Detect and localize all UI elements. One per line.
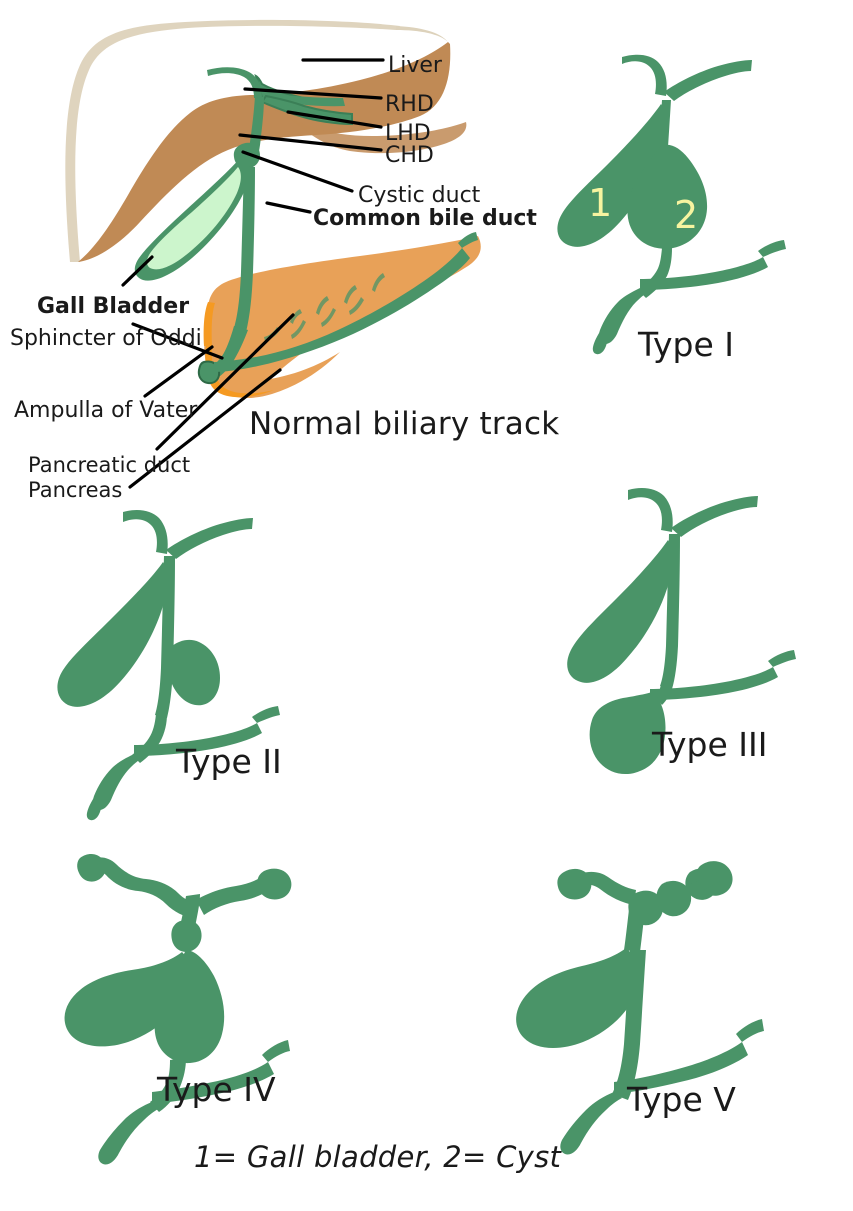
type5-intrahepatic-left-bulb (557, 869, 591, 900)
type5-ampulla-tail (560, 1092, 622, 1154)
type-5-illustration (0, 0, 853, 1211)
type5-gall-bladder (516, 948, 639, 1048)
biliary-cyst-classification-figure: LiverRHDLHDCHDCystic ductCommon bile duc… (0, 0, 853, 1211)
type-5-label: Type V (627, 1083, 736, 1116)
type5-common-hepatic-duct (624, 900, 646, 952)
type5-duodenum-tail (736, 1019, 764, 1042)
figure-footnote: 1= Gall bladder, 2= Cyst (194, 1143, 561, 1172)
